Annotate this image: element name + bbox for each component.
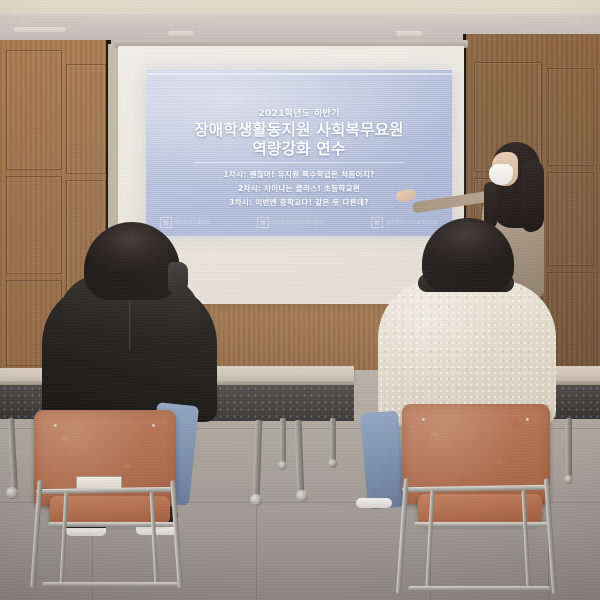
attendee-left-hair: [84, 222, 180, 300]
emblem-icon: ▦: [257, 217, 269, 228]
folding-chair-left[interactable]: [28, 410, 208, 600]
chair-front-rail: [48, 522, 176, 527]
photo-scene: 2021학년도 하반기 장애학생활동지원 사회복무요원 역량강화 연수 1차시:…: [0, 0, 600, 600]
wood-panel-groove: [66, 64, 106, 174]
chair-leg: [30, 480, 43, 588]
recessed-light-slot: [396, 31, 422, 36]
table-caster: [250, 494, 262, 506]
presentation-slide: 2021학년도 하반기 장애학생활동지원 사회복무요원 역량강화 연수 1차시:…: [146, 70, 452, 236]
chair-front-rail: [414, 522, 548, 527]
slide-logo-2: ▦ 광주광역시동부교육지원청: [257, 217, 324, 228]
slide-top-highlight: [146, 73, 452, 75]
attendee-right: [378, 222, 556, 427]
chair-rivet: [422, 418, 425, 421]
table-leg: [330, 418, 336, 462]
chair-bottom-rail: [42, 582, 178, 587]
table-caster: [6, 487, 18, 499]
chair-rivet: [152, 424, 155, 427]
chair-rivet: [526, 418, 529, 421]
table-leg: [280, 418, 286, 464]
table-caster: [296, 490, 308, 502]
table-caster: [328, 459, 337, 468]
attendee-left: [42, 222, 217, 422]
recessed-light-slot: [14, 27, 66, 32]
slide-bullet-1: 1차시: 괜찮아! 유지원 특수학급은 처음이지?: [146, 169, 452, 180]
slide-divider: [194, 162, 404, 163]
attendee-right-hair: [422, 218, 514, 292]
recessed-light-slot: [168, 31, 194, 36]
table-caster: [278, 461, 287, 470]
chair-rivet: [54, 424, 57, 427]
attendee-left-face-mask: [168, 262, 188, 292]
wood-panel-groove: [6, 50, 62, 170]
folding-chair-right[interactable]: [396, 404, 576, 600]
slide-logo-2-label: 광주광역시동부교육지원청: [272, 220, 324, 226]
chair-leg: [544, 478, 557, 594]
chair-bottom-rail: [408, 586, 550, 591]
chair-leg: [396, 478, 409, 594]
slide-title-line-2: 역량강화 연수: [146, 137, 452, 159]
shoe-sole: [356, 498, 392, 508]
chair-leg: [170, 480, 183, 588]
